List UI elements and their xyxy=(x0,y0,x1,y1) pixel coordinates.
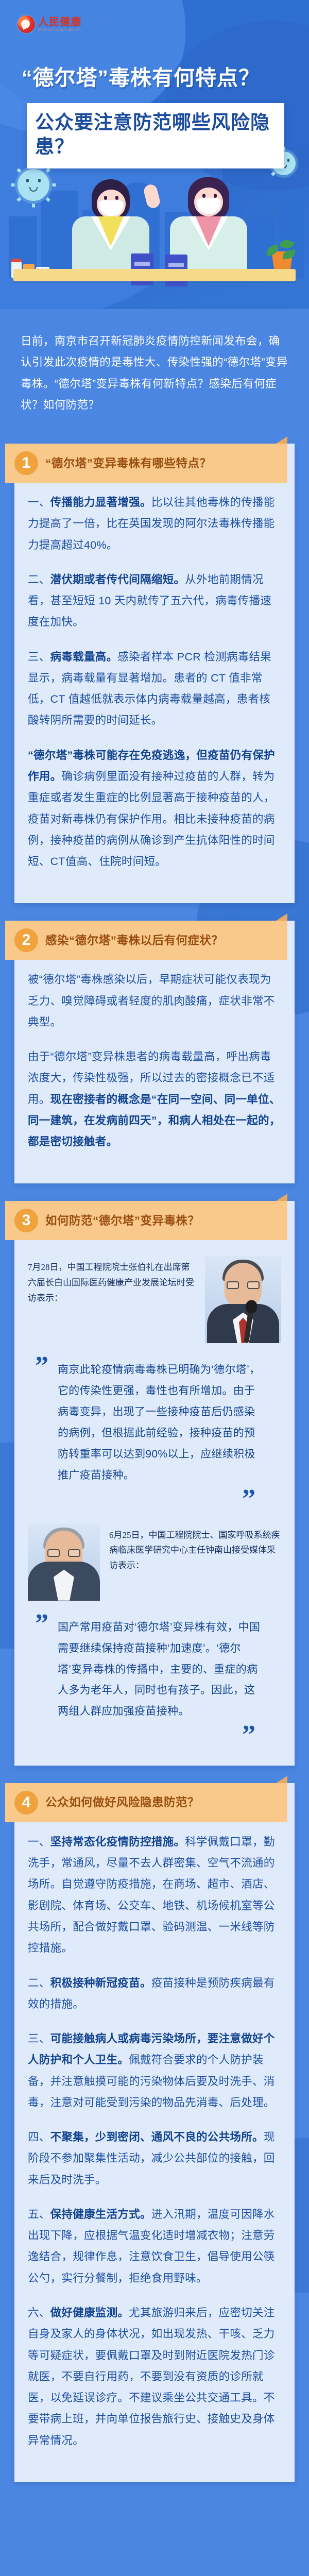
section-card-1: 1 “德尔塔”变异毒株有哪些特点？ 一、传播能力显著增强。比以往其他毒株的传播能… xyxy=(14,444,295,903)
section-header-2: 2 感染“德尔塔”毒株以后有何症状？ xyxy=(5,921,287,960)
virus-face xyxy=(23,179,44,192)
people-daily-logo-icon xyxy=(18,15,35,33)
section-number-badge: 3 xyxy=(14,1209,38,1232)
paragraph: 四、不聚集，少到密闭、通风不良的公共场所。现阶段不参加聚集性活动，减少公共部位的… xyxy=(28,2127,281,2191)
ground-bar xyxy=(13,269,296,281)
section-title: 感染“德尔塔”毒株以后有何症状？ xyxy=(45,933,224,948)
paragraph: 二、积极接种新冠疫苗。疫苗接种是预防疾病最有效的措施。 xyxy=(28,1973,281,2015)
section-card-3: 3 如何防范“德尔塔”变异毒株？ 7月28日，中国工程院院士张伯礼在出席第六届长… xyxy=(14,1201,295,1766)
quote-open-icon: ” xyxy=(35,1613,48,1635)
zhang-boli-portrait xyxy=(205,1256,281,1343)
section-title: “德尔塔”变异毒株有哪些特点？ xyxy=(45,455,212,471)
expert-caption: 6月25日，中国工程院院士、国家呼吸系统疾病临床医学研究中心主任钟南山接受媒体采… xyxy=(109,1523,281,1573)
expert-quote-zhang: ” 南京此轮疫情病毒毒株已明确为‘德尔塔’，它的传染性更强，毒性也有所增加。由于… xyxy=(28,1355,281,1512)
quote-close-icon: ” xyxy=(58,1488,261,1510)
paragraph: 由于“德尔塔”变异株患者的病毒载量高，呼出病毒浓度大，传染性极强，所以过去的密接… xyxy=(28,1046,281,1153)
section-number-badge: 1 xyxy=(14,451,38,475)
expert-caption: 7月28日，中国工程院院士张伯礼在出席第六届长白山国际医药健康产业发展论坛时受访… xyxy=(28,1256,196,1306)
brand-logo: 人民健康 PEOPLE'S DAILY HEALTH xyxy=(18,15,81,33)
section-number-badge: 2 xyxy=(14,928,38,952)
section-card-2: 2 感染“德尔塔”毒株以后有何症状？ 被“德尔塔”毒株感染以后，早期症状可能仅表… xyxy=(14,921,295,1183)
quote-open-icon: ” xyxy=(35,1355,48,1377)
infographic-poster: 人民健康 PEOPLE'S DAILY HEALTH “德尔塔”毒株有何特点？ … xyxy=(0,0,309,2576)
hero-header: 人民健康 PEOPLE'S DAILY HEALTH “德尔塔”毒株有何特点？ … xyxy=(0,0,309,309)
quote-text: 国产常用疫苗对‘德尔塔’变异株有效，中国需要继续保持疫苗接种‘加速度’。‘德尔塔… xyxy=(58,1617,261,1723)
paragraph: 一、坚持常态化疫情防控措施。科学佩戴口罩，勤洗手，常通风，尽量不去人群密集、空气… xyxy=(28,1832,281,1959)
bottom-spacer xyxy=(0,2500,309,2520)
quote-text: 南京此轮疫情病毒毒株已明确为‘德尔塔’，它的传染性更强，毒性也有所增加。由于病毒… xyxy=(58,1360,261,1486)
section-number-badge: 4 xyxy=(14,1791,38,1815)
hero-title-main: “德尔塔”毒株有何特点？ xyxy=(22,66,289,90)
brand-subtitle: PEOPLE'S DAILY HEALTH xyxy=(38,29,81,32)
section-header-4: 4 公众如何做好风险隐患防范？ xyxy=(5,1783,287,1822)
hero-illustration xyxy=(0,155,309,278)
hero-title-sub: 公众要注意防范哪些风险隐患？ xyxy=(35,110,276,159)
paragraph: 三、病毒载量高。感染者样本 PCR 检测病毒结果显示，病毒载量有显著增加。患者的… xyxy=(28,647,281,732)
brand-name: 人民健康 xyxy=(38,17,81,27)
brand-logo-text: 人民健康 PEOPLE'S DAILY HEALTH xyxy=(38,17,81,32)
section-title: 公众如何做好风险隐患防范？ xyxy=(45,1794,199,1810)
paragraph: 二、潜伏期或者传代间隔缩短。从外地前期情况看，甚至短短 10 天内就传了五六代，… xyxy=(28,569,281,633)
virus-icon xyxy=(18,169,49,201)
section-card-4: 4 公众如何做好风险隐患防范？ 一、坚持常态化疫情防控措施。科学佩戴口罩，勤洗手… xyxy=(14,1783,295,2482)
section-header-3: 3 如何防范“德尔塔”变异毒株？ xyxy=(5,1201,287,1240)
hero-title-box: 公众要注意防范哪些风险隐患？ xyxy=(27,103,284,168)
doctor-male-head xyxy=(92,179,130,221)
paragraph: 五、保持健康生活方式。进入汛期，温度可因降水出现下降，应根据气温变化适时增减衣物… xyxy=(28,2204,281,2289)
expert-block-zhang: 7月28日，中国工程院院士张伯礼在出席第六届长白山国际医药健康产业发展论坛时受访… xyxy=(14,1244,295,1343)
zhong-nanshan-portrait xyxy=(28,1523,100,1601)
paragraph: 一、传播能力显著增强。比以往其他毒株的传播能力提高了一倍，比在英国发现的阿尔法毒… xyxy=(28,492,281,556)
doctor-female-head xyxy=(188,177,229,221)
section-body-1: 一、传播能力显著增强。比以往其他毒株的传播能力提高了一倍，比在英国发现的阿尔法毒… xyxy=(14,487,295,872)
paragraph: 被“德尔塔”毒株感染以后，早期症状可能仅表现为乏力、嗅觉障碍或者轻度的肌肉酸痛，… xyxy=(28,969,281,1033)
paragraph: 三、可能接触病人或病毒污染场所，要注意做好个人防护和个人卫生。佩戴符合要求的个人… xyxy=(28,2028,281,2113)
expert-block-zhong: 6月25日，中国工程院院士、国家呼吸系统疾病临床医学研究中心主任钟南山接受媒体采… xyxy=(14,1512,295,1601)
section-header-1: 1 “德尔塔”变异毒株有哪些特点？ xyxy=(5,444,287,483)
paragraph: “德尔塔”毒株可能存在免疫逃逸，但疫苗仍有保护作用。确诊病例里面没有接种过疫苗的… xyxy=(28,745,281,873)
doctor-female-illustration xyxy=(170,177,247,278)
expert-quote-zhong: ” 国产常用疫苗对‘德尔塔’变异株有效，中国需要继续保持疫苗接种‘加速度’。‘德… xyxy=(28,1613,281,1748)
section-body-4: 一、坚持常态化疫情防控措施。科学佩戴口罩，勤洗手，常通风，尽量不去人群密集、空气… xyxy=(14,1826,295,2451)
doctor-male-illustration xyxy=(72,179,149,278)
intro-paragraph: 日前，南京市召开新冠肺炎疫情防控新闻发布会，确认引发此次疫情的是毒性大、传染性强… xyxy=(0,309,309,434)
section-body-2: 被“德尔塔”毒株感染以后，早期症状可能仅表现为乏力、嗅觉障碍或者轻度的肌肉酸痛，… xyxy=(14,964,295,1153)
paragraph: 六、做好健康监测。尤其旅游归来后，应密切关注自身及家人的身体状况，如出现发热、干… xyxy=(28,2302,281,2451)
quote-close-icon: ” xyxy=(58,1724,261,1746)
section-title: 如何防范“德尔塔”变异毒株？ xyxy=(45,1213,200,1229)
